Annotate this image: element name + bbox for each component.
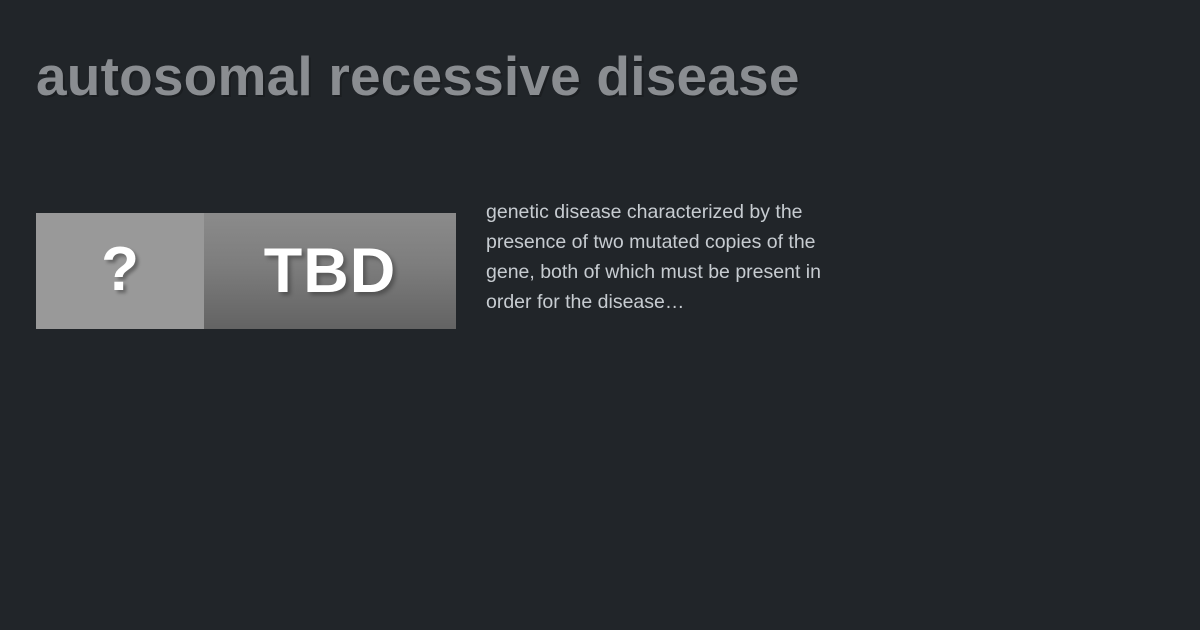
content-row: ? TBD genetic disease characterized by t… [36,213,1166,329]
thumbnail-left-panel: ? [36,213,204,329]
question-mark-icon: ? [101,239,139,301]
thumbnail-image[interactable]: ? TBD [36,213,456,329]
page-title: autosomal recessive disease [36,46,876,106]
tbd-label: TBD [264,240,396,303]
thumbnail-right-panel: TBD [204,213,456,329]
description-text: genetic disease characterized by the pre… [486,197,834,317]
preview-card: autosomal recessive disease ? TBD geneti… [0,0,1200,630]
